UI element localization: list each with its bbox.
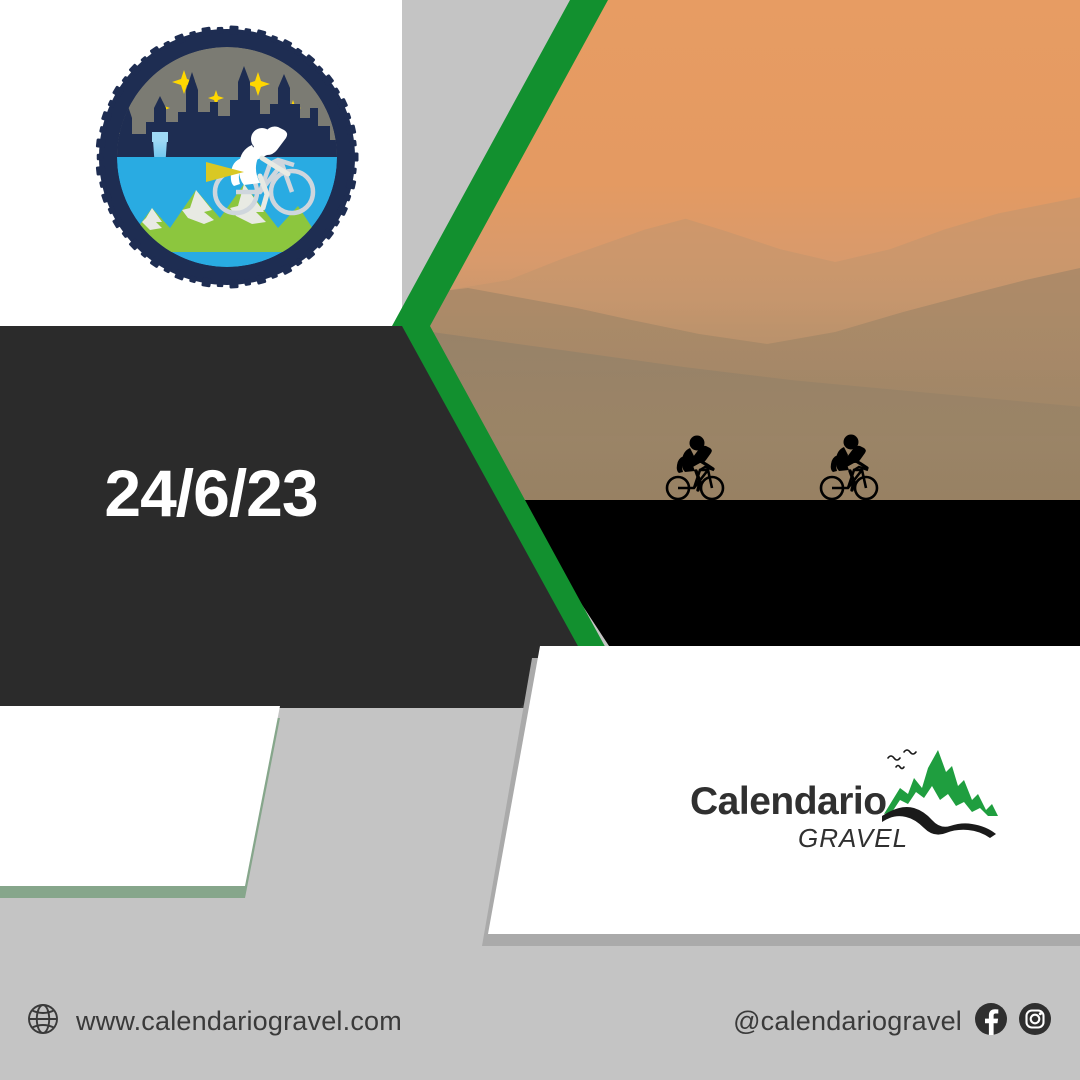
brand-lockup: Calendario GRAVEL bbox=[690, 742, 1010, 850]
cyclist-silhouette-right bbox=[818, 426, 880, 500]
website-url[interactable]: www.calendariogravel.com bbox=[76, 1006, 402, 1037]
globe-icon bbox=[26, 1002, 60, 1041]
left-white-card bbox=[0, 706, 290, 886]
cyclist-silhouette-left bbox=[664, 426, 726, 500]
social-group[interactable]: @calendariogravel bbox=[733, 1002, 1052, 1041]
event-date: 24/6/23 bbox=[104, 455, 317, 531]
footer-bar: www.calendariogravel.com @calendariograv… bbox=[0, 980, 1080, 1080]
brand-wordmark: Calendario GRAVEL bbox=[690, 782, 908, 851]
night-ride-city-badge bbox=[92, 22, 362, 292]
instagram-icon[interactable] bbox=[1018, 1002, 1052, 1041]
poster-canvas: 24/6/23 Calendario GRAVEL bbox=[0, 0, 1080, 1080]
date-container: 24/6/23 bbox=[0, 326, 402, 708]
facebook-icon[interactable] bbox=[974, 1002, 1008, 1041]
green-mountain-icon bbox=[880, 742, 1000, 845]
website-group[interactable]: www.calendariogravel.com bbox=[26, 1002, 402, 1041]
brand-name: Calendario bbox=[690, 782, 908, 821]
social-handle[interactable]: @calendariogravel bbox=[733, 1006, 962, 1037]
